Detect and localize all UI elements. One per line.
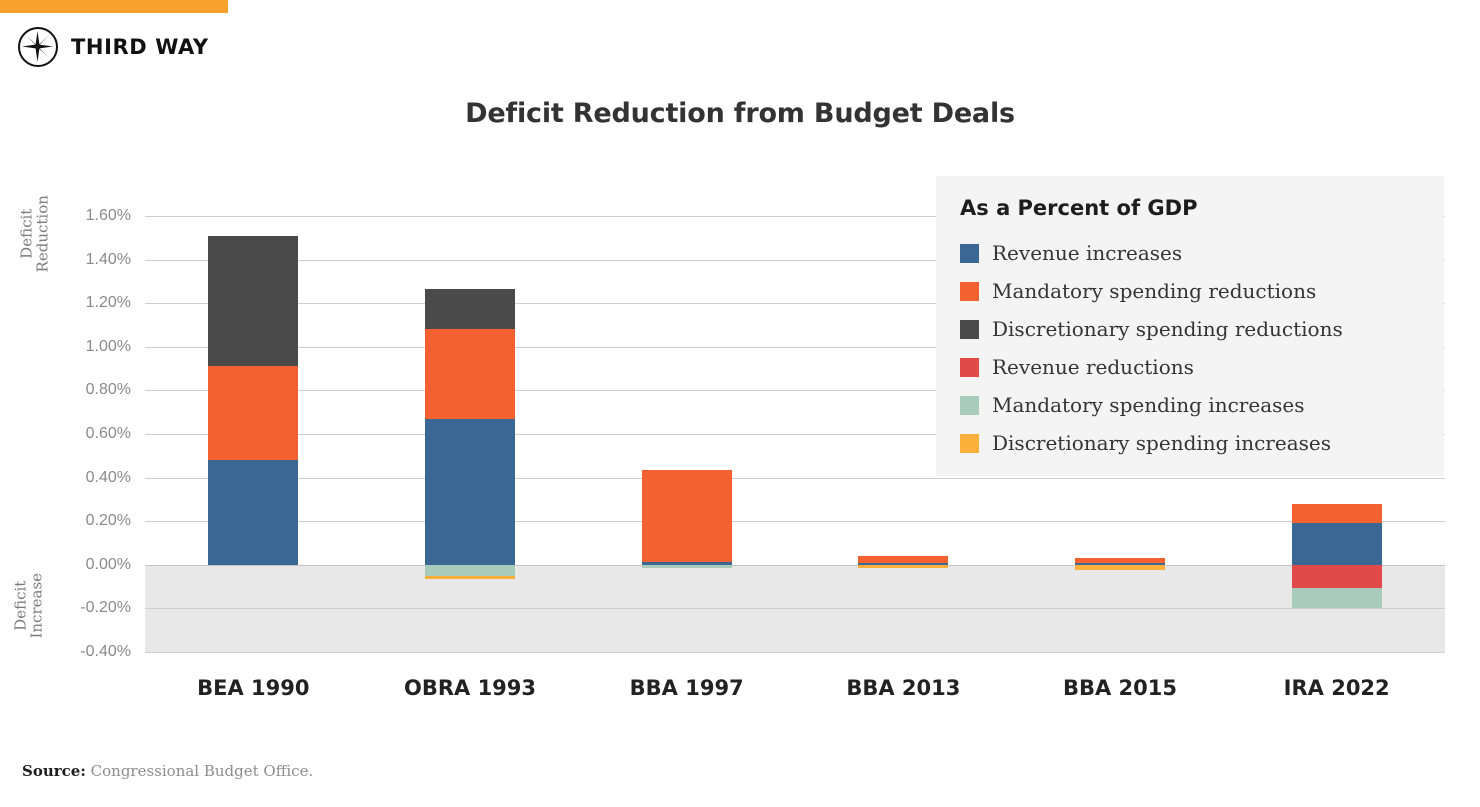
bar-segment[interactable] — [208, 366, 298, 460]
bar-segment[interactable] — [858, 556, 948, 563]
bar-group[interactable] — [208, 216, 298, 652]
bar-segment[interactable] — [425, 576, 515, 579]
legend-item[interactable]: Discretionary spending increases — [960, 424, 1444, 462]
y-axis-tick-label: 0.20% — [11, 512, 131, 530]
bar-segment[interactable] — [1075, 558, 1165, 562]
legend-swatch-icon — [960, 282, 979, 301]
source-label: Source: — [22, 762, 86, 780]
x-axis-label: BBA 2013 — [846, 676, 960, 700]
legend-item-label: Discretionary spending increases — [992, 431, 1331, 455]
source-text: Congressional Budget Office. — [91, 762, 314, 780]
bar-segment[interactable] — [858, 565, 948, 568]
bar-segment[interactable] — [1292, 504, 1382, 524]
bar-segment[interactable] — [1075, 565, 1165, 570]
legend-item-label: Discretionary spending reductions — [992, 317, 1343, 341]
bar-segment[interactable] — [1292, 588, 1382, 609]
bar-segment[interactable] — [425, 419, 515, 565]
legend-item-label: Mandatory spending increases — [992, 393, 1305, 417]
legend-swatch-icon — [960, 434, 979, 453]
gridline — [145, 565, 1445, 566]
gridline — [145, 478, 1445, 479]
y-axis-tick-label: 0.40% — [11, 469, 131, 487]
bar-group[interactable] — [858, 216, 948, 652]
y-axis-tick-label: 0.00% — [11, 556, 131, 574]
bar-segment[interactable] — [425, 329, 515, 418]
legend-item[interactable]: Revenue increases — [960, 234, 1444, 272]
legend-item-label: Revenue increases — [992, 241, 1182, 265]
source-note: Source: Congressional Budget Office. — [22, 762, 313, 780]
bar-segment[interactable] — [642, 565, 732, 568]
legend-item[interactable]: Mandatory spending reductions — [960, 272, 1444, 310]
x-axis-label: OBRA 1993 — [404, 676, 536, 700]
bar-segment[interactable] — [1292, 523, 1382, 564]
bar-segment[interactable] — [208, 236, 298, 367]
legend-swatch-icon — [960, 358, 979, 377]
legend-swatch-icon — [960, 396, 979, 415]
y-axis-tick-label: 0.60% — [11, 425, 131, 443]
legend-item[interactable]: Mandatory spending increases — [960, 386, 1444, 424]
y-axis-tick-label: 1.20% — [11, 294, 131, 312]
bar-group[interactable] — [425, 216, 515, 652]
y-axis-title-positive: Deficit Reduction — [19, 179, 51, 289]
legend: As a Percent of GDP Revenue increasesMan… — [936, 176, 1444, 476]
legend-title: As a Percent of GDP — [960, 196, 1444, 220]
x-axis-label: BBA 1997 — [630, 676, 744, 700]
y-axis-tick-label: 1.60% — [11, 207, 131, 225]
y-axis-tick-label: 0.80% — [11, 381, 131, 399]
legend-item[interactable]: Discretionary spending reductions — [960, 310, 1444, 348]
y-axis-tick-label: 1.00% — [11, 338, 131, 356]
legend-items: Revenue increasesMandatory spending redu… — [960, 234, 1444, 462]
legend-swatch-icon — [960, 320, 979, 339]
legend-item[interactable]: Revenue reductions — [960, 348, 1444, 386]
bar-segment[interactable] — [425, 565, 515, 576]
bar-group[interactable] — [642, 216, 732, 652]
legend-item-label: Revenue reductions — [992, 355, 1194, 379]
bar-segment[interactable] — [208, 460, 298, 565]
bar-segment[interactable] — [425, 289, 515, 329]
y-axis-tick-label: 1.40% — [11, 251, 131, 269]
x-axis-label: BBA 2015 — [1063, 676, 1177, 700]
x-axis-label: BEA 1990 — [197, 676, 309, 700]
legend-item-label: Mandatory spending reductions — [992, 279, 1316, 303]
gridline — [145, 521, 1445, 522]
bar-segment[interactable] — [1292, 565, 1382, 588]
x-axis-label: IRA 2022 — [1284, 676, 1390, 700]
y-axis-tick-label: -0.20% — [11, 599, 131, 617]
legend-swatch-icon — [960, 244, 979, 263]
bar-segment[interactable] — [642, 470, 732, 562]
y-axis-tick-label: -0.40% — [11, 643, 131, 661]
gridline — [145, 652, 1445, 653]
gridline — [145, 608, 1445, 609]
